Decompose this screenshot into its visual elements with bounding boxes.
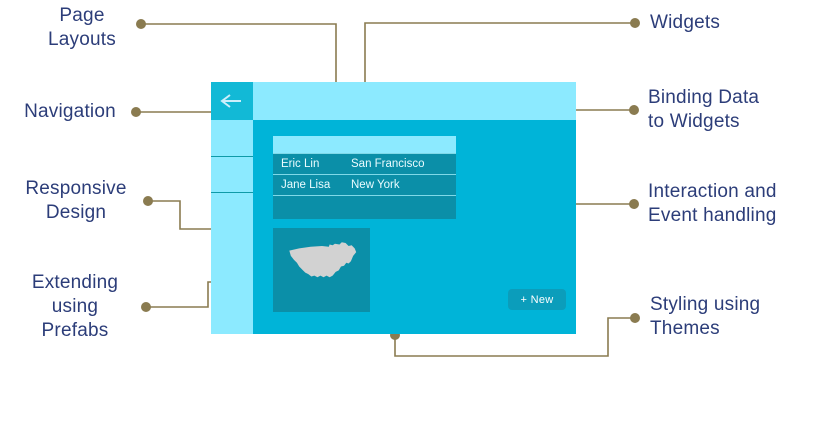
connector-dot-page-layouts-label [136, 19, 146, 29]
table-row[interactable]: Jane Lisa New York [273, 174, 456, 195]
data-grid-header [273, 136, 456, 153]
connector-page-layouts [141, 24, 336, 87]
connector-dot-widgets-label [630, 18, 640, 28]
app-mockup: Eric Lin San Francisco Jane Lisa New Yor… [211, 82, 576, 334]
callout-responsive-design: Responsive Design [8, 177, 144, 225]
callout-navigation: Navigation [8, 100, 132, 124]
map-widget[interactable] [273, 228, 370, 312]
sidebar-divider-2 [211, 192, 253, 193]
callout-page-layouts: Page Layouts [28, 4, 136, 52]
connector-responsive-design [148, 201, 219, 229]
callout-binding-data: Binding Data to Widgets [648, 86, 818, 134]
callout-styling-themes: Styling using Themes [650, 293, 816, 341]
connector-dot-navigation-label [131, 107, 141, 117]
connector-dot-prefabs-label [141, 302, 151, 312]
cell-city: San Francisco [351, 158, 456, 170]
connector-dot-interaction-label [629, 199, 639, 209]
data-grid-widget[interactable]: Eric Lin San Francisco Jane Lisa New Yor… [273, 136, 456, 218]
app-topbar [211, 82, 576, 120]
connector-dot-styling-label [630, 313, 640, 323]
back-button[interactable] [211, 82, 253, 120]
sidebar-divider-1 [211, 156, 253, 157]
cell-city: New York [351, 179, 456, 191]
callout-widgets: Widgets [650, 11, 816, 35]
data-grid-footer [273, 195, 456, 219]
app-sidebar[interactable] [211, 120, 253, 334]
cell-name: Eric Lin [273, 158, 351, 170]
app-content-area: Eric Lin San Francisco Jane Lisa New Yor… [253, 120, 576, 334]
back-arrow-icon [219, 93, 245, 109]
new-button[interactable]: + New [508, 289, 566, 310]
diagram-canvas: Page Layouts Navigation Responsive Desig… [0, 0, 820, 437]
connector-dot-binding-label [629, 105, 639, 115]
callout-extending-prefabs: Extending using Prefabs [10, 271, 140, 343]
table-row[interactable]: Eric Lin San Francisco [273, 153, 456, 174]
connector-dot-responsive-label [143, 196, 153, 206]
usa-map-icon [273, 237, 370, 287]
callout-interaction: Interaction and Event handling [648, 180, 820, 228]
cell-name: Jane Lisa [273, 179, 351, 191]
